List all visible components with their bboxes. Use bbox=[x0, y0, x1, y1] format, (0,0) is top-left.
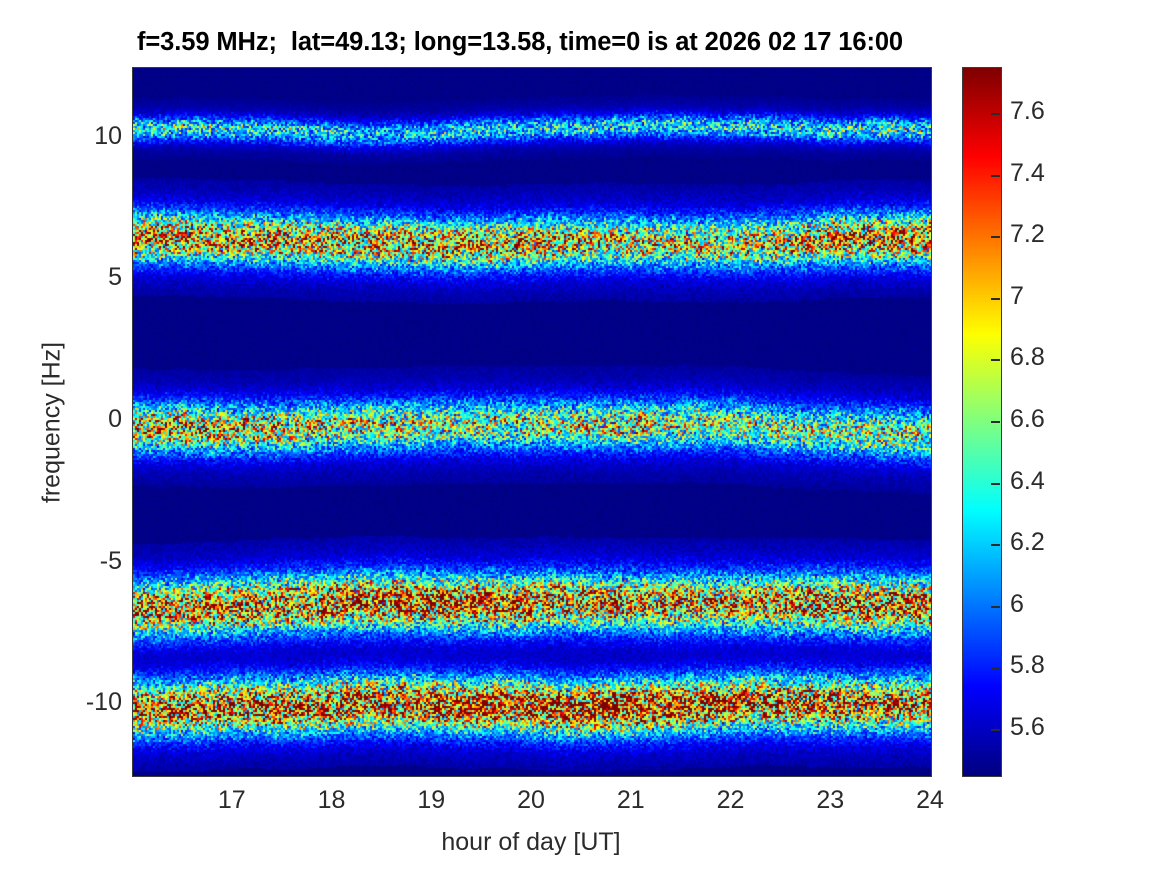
colorbar-tick-mark bbox=[991, 298, 1000, 300]
colorbar-tick-label: 5.8 bbox=[1010, 651, 1140, 680]
colorbar-tick-mark bbox=[991, 175, 1000, 177]
colorbar-tick-label: 6.4 bbox=[1010, 467, 1140, 496]
colorbar-tick-label: 6.6 bbox=[1010, 405, 1140, 434]
colorbar-tick-mark bbox=[991, 606, 1000, 608]
colorbar-tick-label: 7.6 bbox=[1010, 97, 1140, 126]
figure-canvas: f=3.59 MHz; lat=49.13; long=13.58, time=… bbox=[0, 0, 1167, 875]
colorbar-tick-label: 6.2 bbox=[1010, 528, 1140, 557]
colorbar-tick-mark bbox=[991, 421, 1000, 423]
colorbar-tick-label: 7 bbox=[1010, 282, 1140, 311]
colorbar-tick-label: 5.6 bbox=[1010, 713, 1140, 742]
colorbar-tick-label: 6 bbox=[1010, 590, 1140, 619]
colorbar-tick-mark bbox=[991, 483, 1000, 485]
colorbar-tick-mark bbox=[991, 544, 1000, 546]
colorbar-tick-mark bbox=[991, 667, 1000, 669]
colorbar-tick-mark bbox=[991, 359, 1000, 361]
colorbar-ticks: 7.67.47.276.86.66.46.265.85.6 bbox=[0, 0, 1167, 875]
colorbar-tick-mark bbox=[991, 236, 1000, 238]
colorbar-tick-label: 7.4 bbox=[1010, 159, 1140, 188]
colorbar-tick-label: 7.2 bbox=[1010, 220, 1140, 249]
colorbar-tick-label: 6.8 bbox=[1010, 343, 1140, 372]
colorbar-tick-mark bbox=[991, 113, 1000, 115]
colorbar-tick-mark bbox=[991, 729, 1000, 731]
